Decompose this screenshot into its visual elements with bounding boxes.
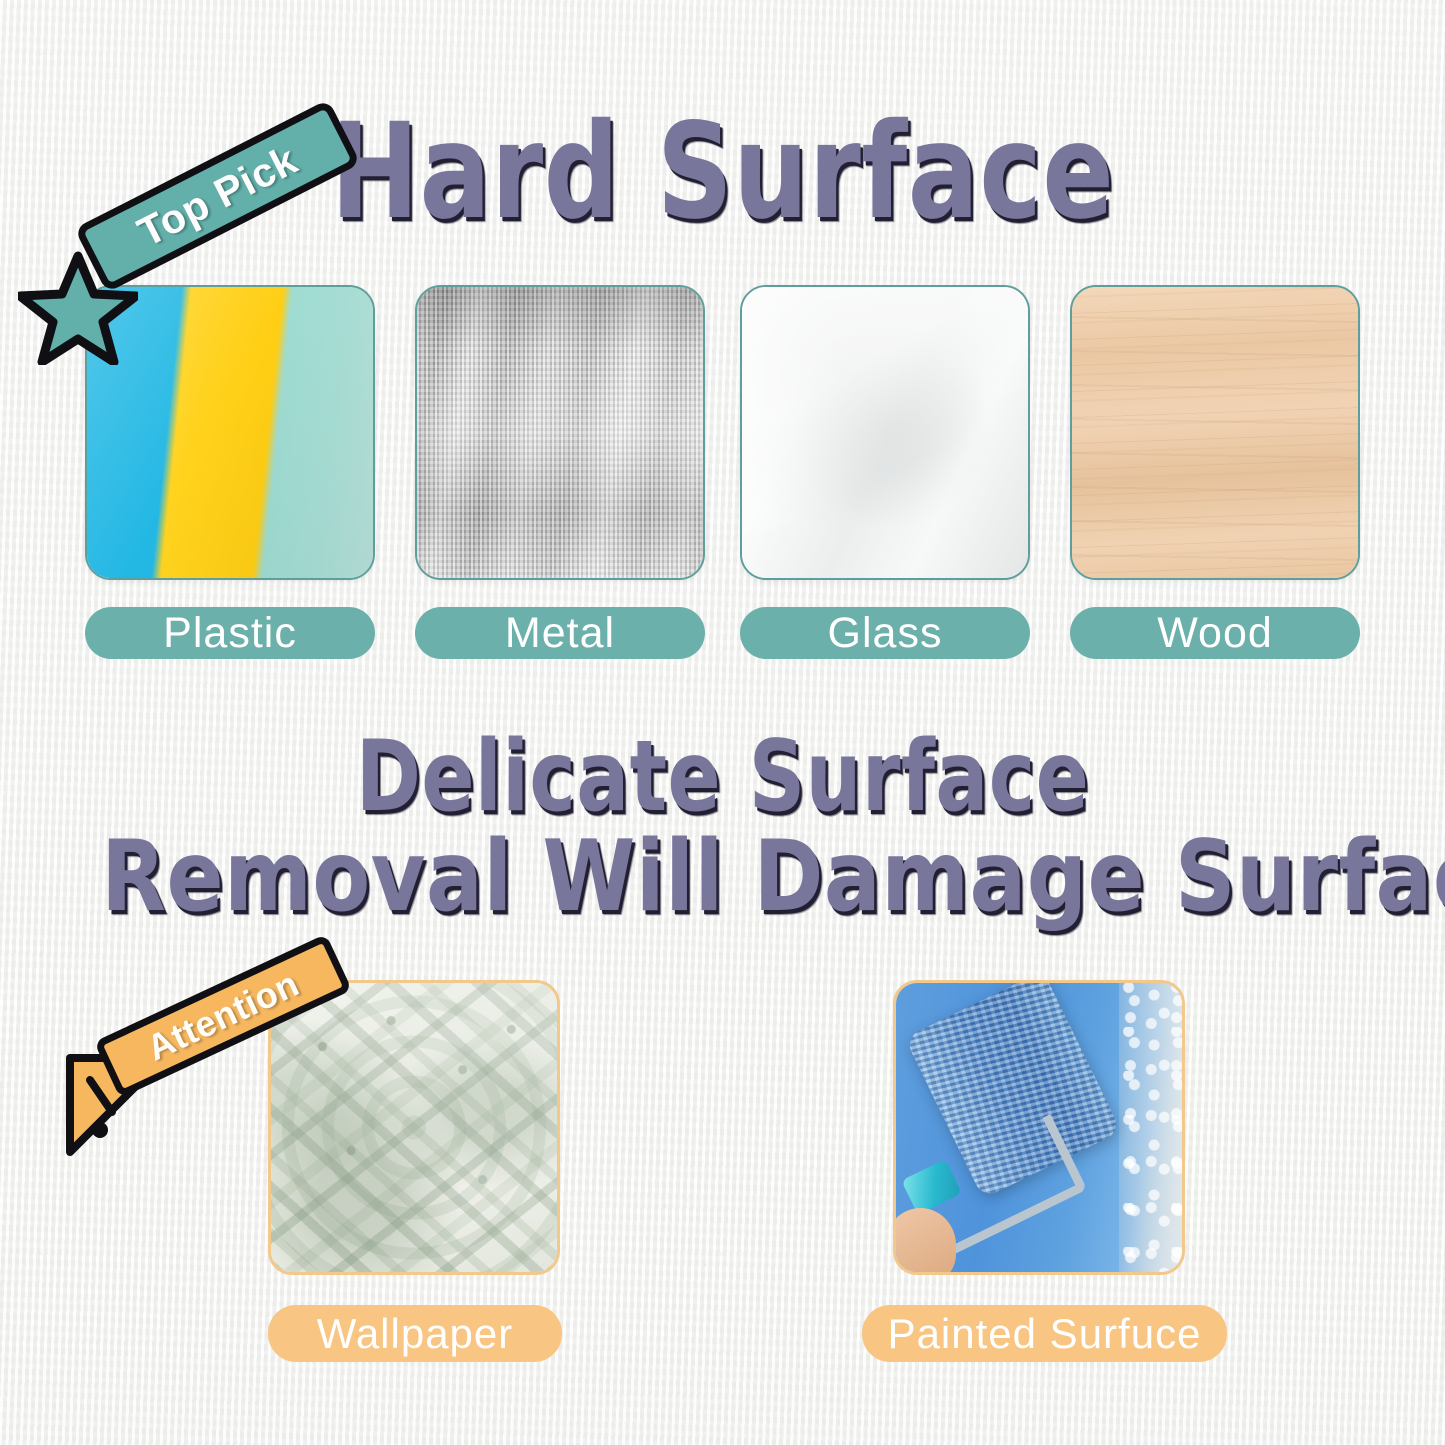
label-pill-wood: Wood bbox=[1070, 607, 1360, 659]
label-pill-painted-surface: Painted Surfuce bbox=[862, 1305, 1227, 1362]
wood-texture bbox=[1072, 287, 1358, 578]
image-card-painted-surface bbox=[893, 980, 1185, 1275]
image-card-wallpaper bbox=[268, 980, 560, 1275]
label-pill-wallpaper: Wallpaper bbox=[268, 1305, 562, 1362]
page-title-delicate-surface: Delicate Surface bbox=[145, 728, 1301, 826]
swatch-glass bbox=[740, 285, 1030, 580]
label-pill-metal: Metal bbox=[415, 607, 705, 659]
wallpaper-texture bbox=[271, 983, 557, 1272]
textured-wall-edge bbox=[1119, 983, 1182, 1272]
page-subtitle-removal-warning: Removal Will Damage Surface bbox=[101, 828, 1344, 926]
glass-texture bbox=[742, 287, 1028, 578]
swatch-wood bbox=[1070, 285, 1360, 580]
label-pill-plastic: Plastic bbox=[85, 607, 375, 659]
metal-texture bbox=[417, 287, 703, 578]
painted-wall-texture bbox=[896, 983, 1182, 1272]
swatch-metal bbox=[415, 285, 705, 580]
label-pill-glass: Glass bbox=[740, 607, 1030, 659]
